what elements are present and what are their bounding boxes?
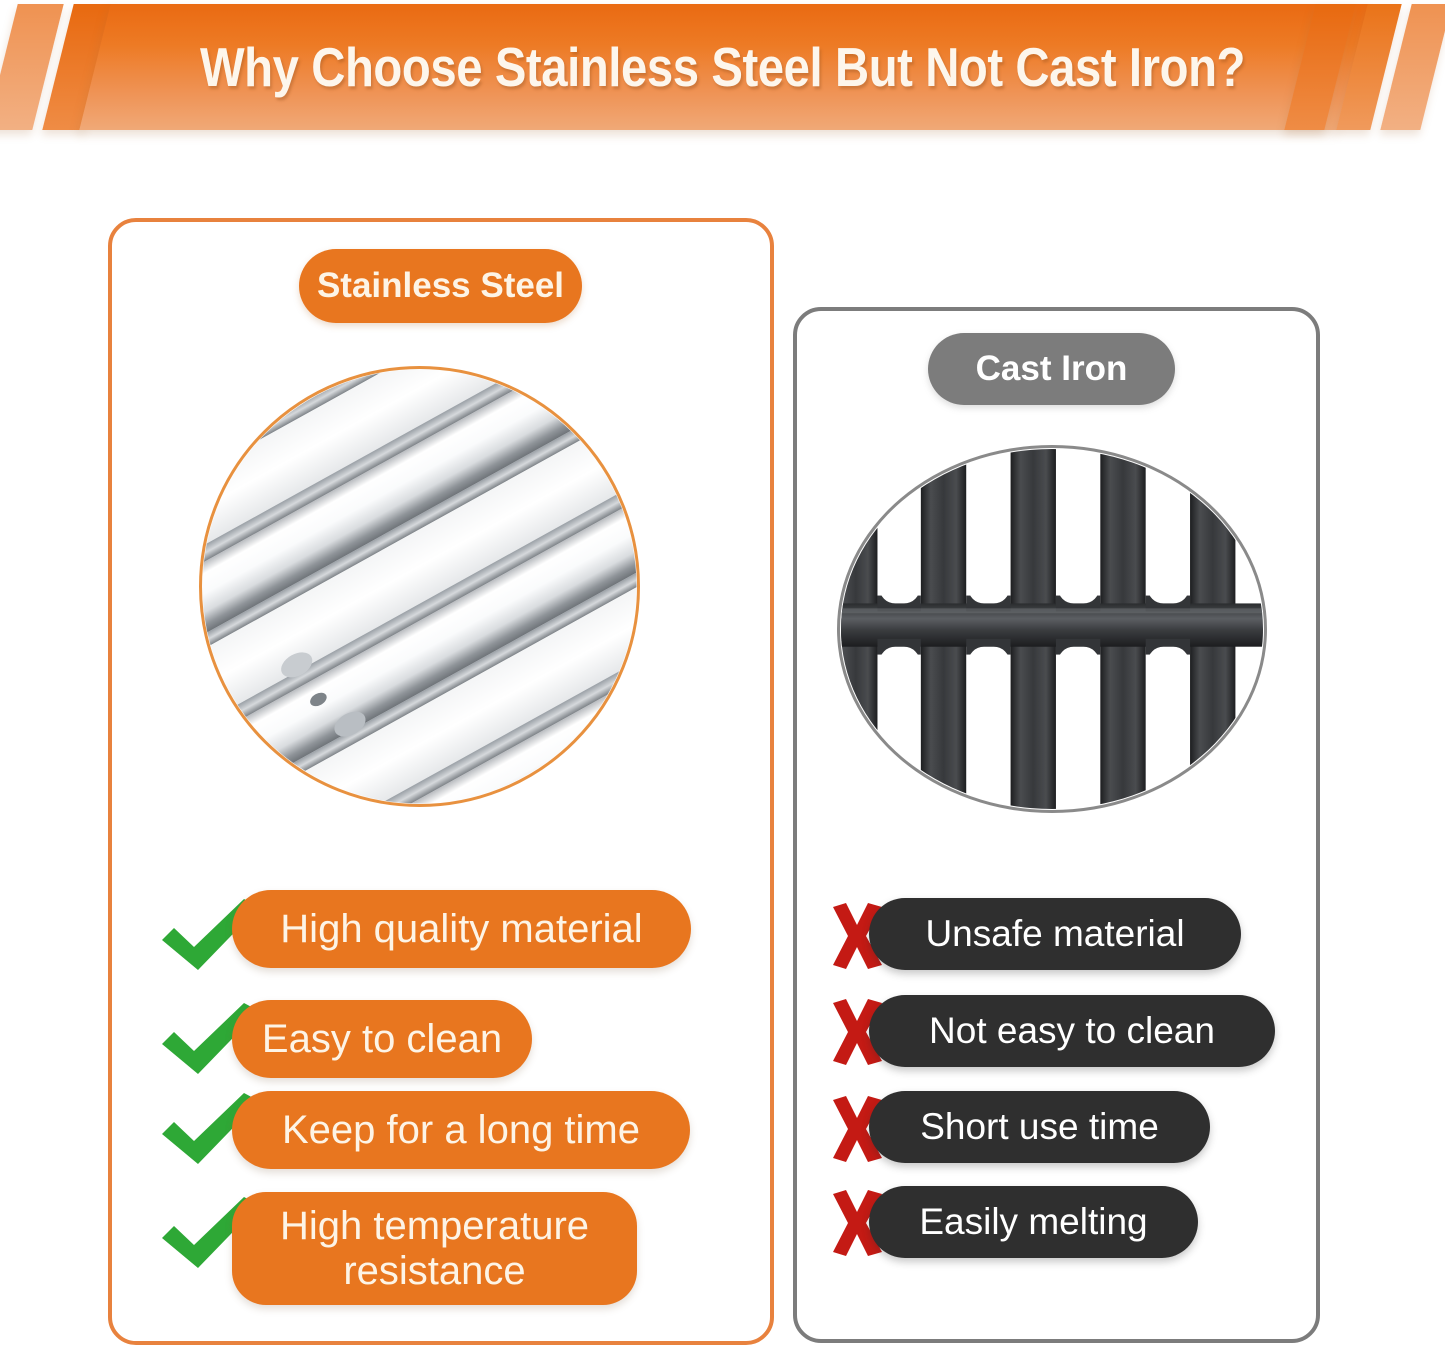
cast-iron-image	[837, 445, 1267, 813]
feature-pill-keep-for-a-long-time[interactable]: Keep for a long time	[232, 1091, 690, 1169]
page-title: Why Choose Stainless Steel But Not Cast …	[101, 0, 1344, 134]
feature-pill-high-quality-material[interactable]: High quality material	[232, 890, 691, 968]
feature-line-1: High temperature	[280, 1204, 589, 1249]
header-banner: Why Choose Stainless Steel But Not Cast …	[0, 0, 1445, 150]
feature-pill-easy-to-clean[interactable]: Easy to clean	[232, 1000, 532, 1078]
feature-pill-short-use-time[interactable]: Short use time	[869, 1091, 1210, 1163]
stainless-steel-image	[199, 366, 640, 807]
stainless-steel-grate-illustration	[202, 369, 637, 804]
feature-line-2: resistance	[343, 1249, 525, 1294]
feature-pill-not-easy-to-clean[interactable]: Not easy to clean	[869, 995, 1275, 1067]
feature-pill-easily-melting[interactable]: Easily melting	[869, 1186, 1198, 1258]
cast-iron-label: Cast Iron	[928, 333, 1175, 405]
cast-iron-grate-illustration	[840, 448, 1264, 810]
feature-pill-unsafe-material[interactable]: Unsafe material	[869, 898, 1241, 970]
feature-pill-high-temperature-resistance[interactable]: High temperature resistance	[232, 1192, 637, 1305]
stainless-steel-label: Stainless Steel	[299, 249, 582, 323]
